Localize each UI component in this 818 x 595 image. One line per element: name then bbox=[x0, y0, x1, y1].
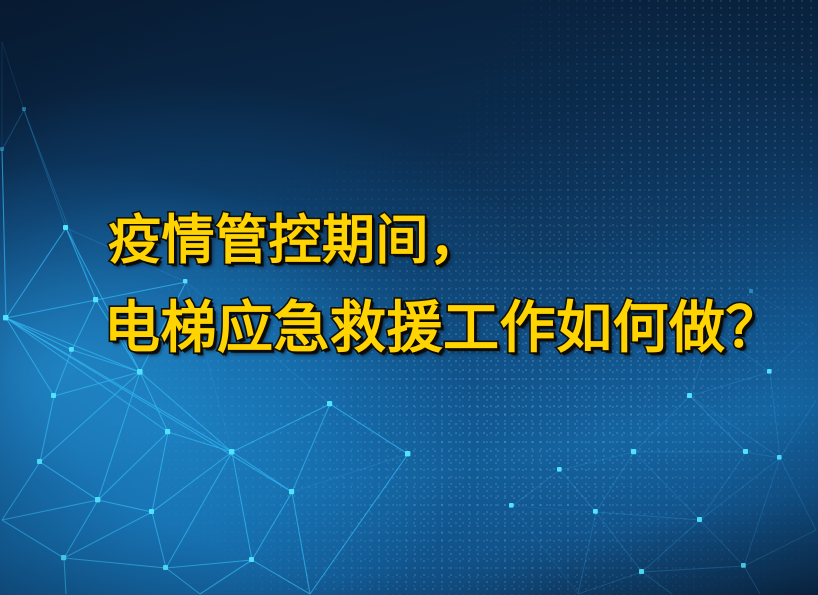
poster-canvas: 疫情管控期间， 电梯应急救援工作如何做？ bbox=[0, 0, 818, 595]
headline-line-1: 疫情管控期间， bbox=[108, 214, 764, 267]
headline-block: 疫情管控期间， 电梯应急救援工作如何做？ bbox=[104, 214, 764, 357]
headline-line-2: 电梯应急救援工作如何做？ bbox=[104, 301, 764, 357]
